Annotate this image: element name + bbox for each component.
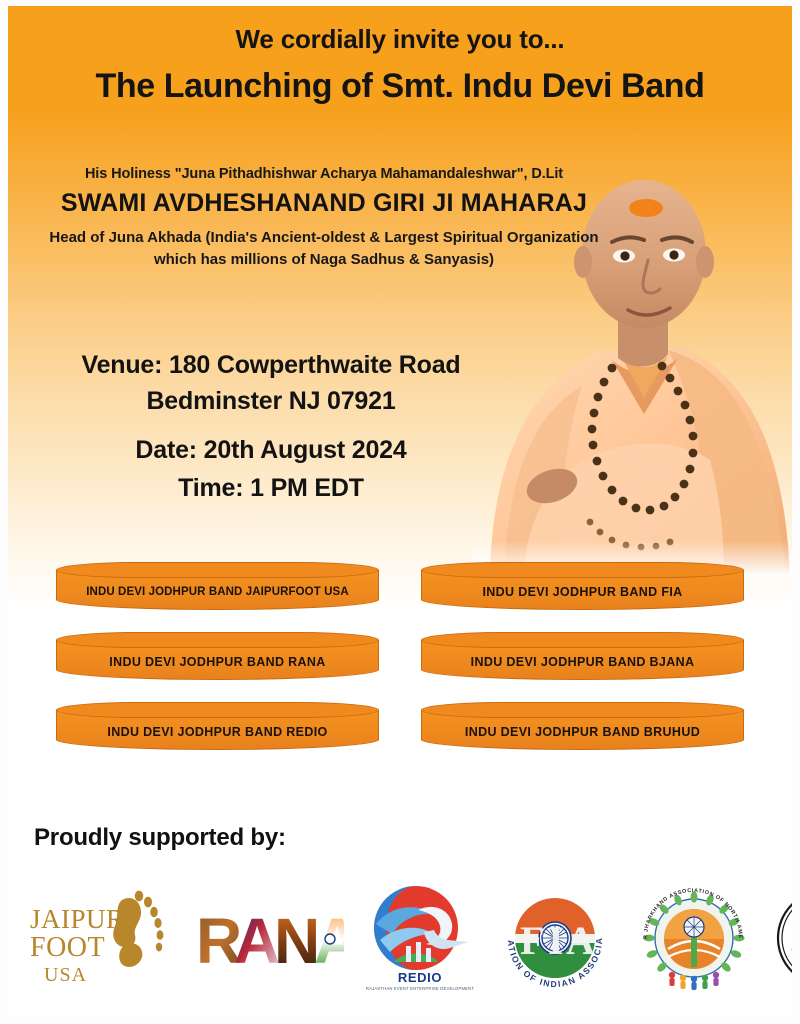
wristband[interactable]: INDU DEVI JODHPUR BAND JAIPURFOOT USA — [56, 562, 379, 614]
jaipur-line-1: JAIPUR — [30, 904, 125, 934]
poster-title: The Launching of Smt. Indu Devi Band — [8, 67, 792, 106]
redio-wordmark: REDIO — [398, 970, 442, 985]
guru-role: Head of Juna Akhada (India's Ancient-old… — [24, 227, 624, 271]
venue-line-1: Venue: 180 Cowperthwaite Road — [36, 348, 506, 384]
jaipur-line-3: USA — [44, 964, 87, 986]
redio-logo: REDIO RAJASTHAN EVENT ENTERPRISE DEVELOP… — [364, 884, 476, 992]
guru-name: SWAMI AVDHESHANAND GIRI JI MAHARAJ — [24, 189, 624, 218]
venue-line-2: Bedminster NJ 07921 — [36, 384, 506, 420]
wristband[interactable]: INDU DEVI JODHPUR BAND RANA — [56, 632, 379, 684]
redio-subtitle: RAJASTHAN EVENT ENTERPRISE DEVELOPMENT — [366, 986, 475, 991]
wristband-top-ellipse — [421, 632, 744, 648]
fia-logo: F I A FEDERATION OF INDIAN ASSOCIATIONS — [496, 882, 614, 994]
guru-honorific: His Holiness "Juna Pithadhishwar Acharya… — [24, 166, 624, 182]
jaipur-foot-usa-logo: JAIPUR FOOT USA — [26, 888, 176, 988]
fia-letter-i: I — [548, 918, 564, 963]
supported-by-heading: Proudly supported by: — [34, 824, 286, 852]
wristband-label: INDU DEVI JODHPUR BAND BRUHUD — [465, 725, 700, 739]
bruhud-logo: B N Y S •BRUHUD• New York Senior — [776, 889, 792, 987]
fia-letter-f: F — [520, 918, 544, 963]
wristband-label: INDU DEVI JODHPUR BAND RANA — [109, 655, 325, 669]
wristband-label: INDU DEVI JODHPUR BAND FIA — [482, 585, 682, 599]
wristband-label: INDU DEVI JODHPUR BAND BJANA — [471, 655, 695, 669]
wristband[interactable]: INDU DEVI JODHPUR BAND REDIO — [56, 702, 379, 754]
guru-info-block: His Holiness "Juna Pithadhishwar Acharya… — [24, 166, 624, 271]
wristband-label: INDU DEVI JODHPUR BAND JAIPURFOOT USA — [86, 586, 348, 598]
sponsor-logo-row: JAIPUR FOOT USA — [8, 878, 792, 998]
wristband-top-ellipse — [56, 702, 379, 718]
wristband[interactable]: INDU DEVI JODHPUR BAND BRUHUD — [421, 702, 744, 754]
wristband-top-ellipse — [56, 562, 379, 578]
poster-header: We cordially invite you to... The Launch… — [8, 6, 792, 106]
event-details: Venue: 180 Cowperthwaite Road Bedminster… — [36, 348, 506, 506]
rana-letter-a2: A — [314, 905, 344, 977]
invite-line: We cordially invite you to... — [8, 24, 792, 55]
wristband[interactable]: INDU DEVI JODHPUR BAND FIA — [421, 562, 744, 614]
wristband-top-ellipse — [421, 562, 744, 578]
bjana-logo: BIHAR JHARKHAND ASSOCIATION OF NORTH AME… — [638, 883, 750, 993]
event-date: Date: 20th August 2024 — [36, 433, 506, 469]
wristband-top-ellipse — [56, 632, 379, 648]
wristband[interactable]: INDU DEVI JODHPUR BAND BJANA — [421, 632, 744, 684]
event-time: Time: 1 PM EDT — [36, 471, 506, 507]
wristband-top-ellipse — [421, 702, 744, 718]
wristband-grid: INDU DEVI JODHPUR BAND JAIPURFOOT USA IN… — [8, 562, 792, 754]
jaipur-line-2: FOOT — [30, 932, 105, 963]
poster-canvas: We cordially invite you to... The Launch… — [8, 6, 792, 1016]
wristband-label: INDU DEVI JODHPUR BAND REDIO — [107, 725, 327, 739]
rana-logo: R A N A — [194, 899, 344, 977]
poster-page: We cordially invite you to... The Launch… — [0, 0, 800, 1024]
